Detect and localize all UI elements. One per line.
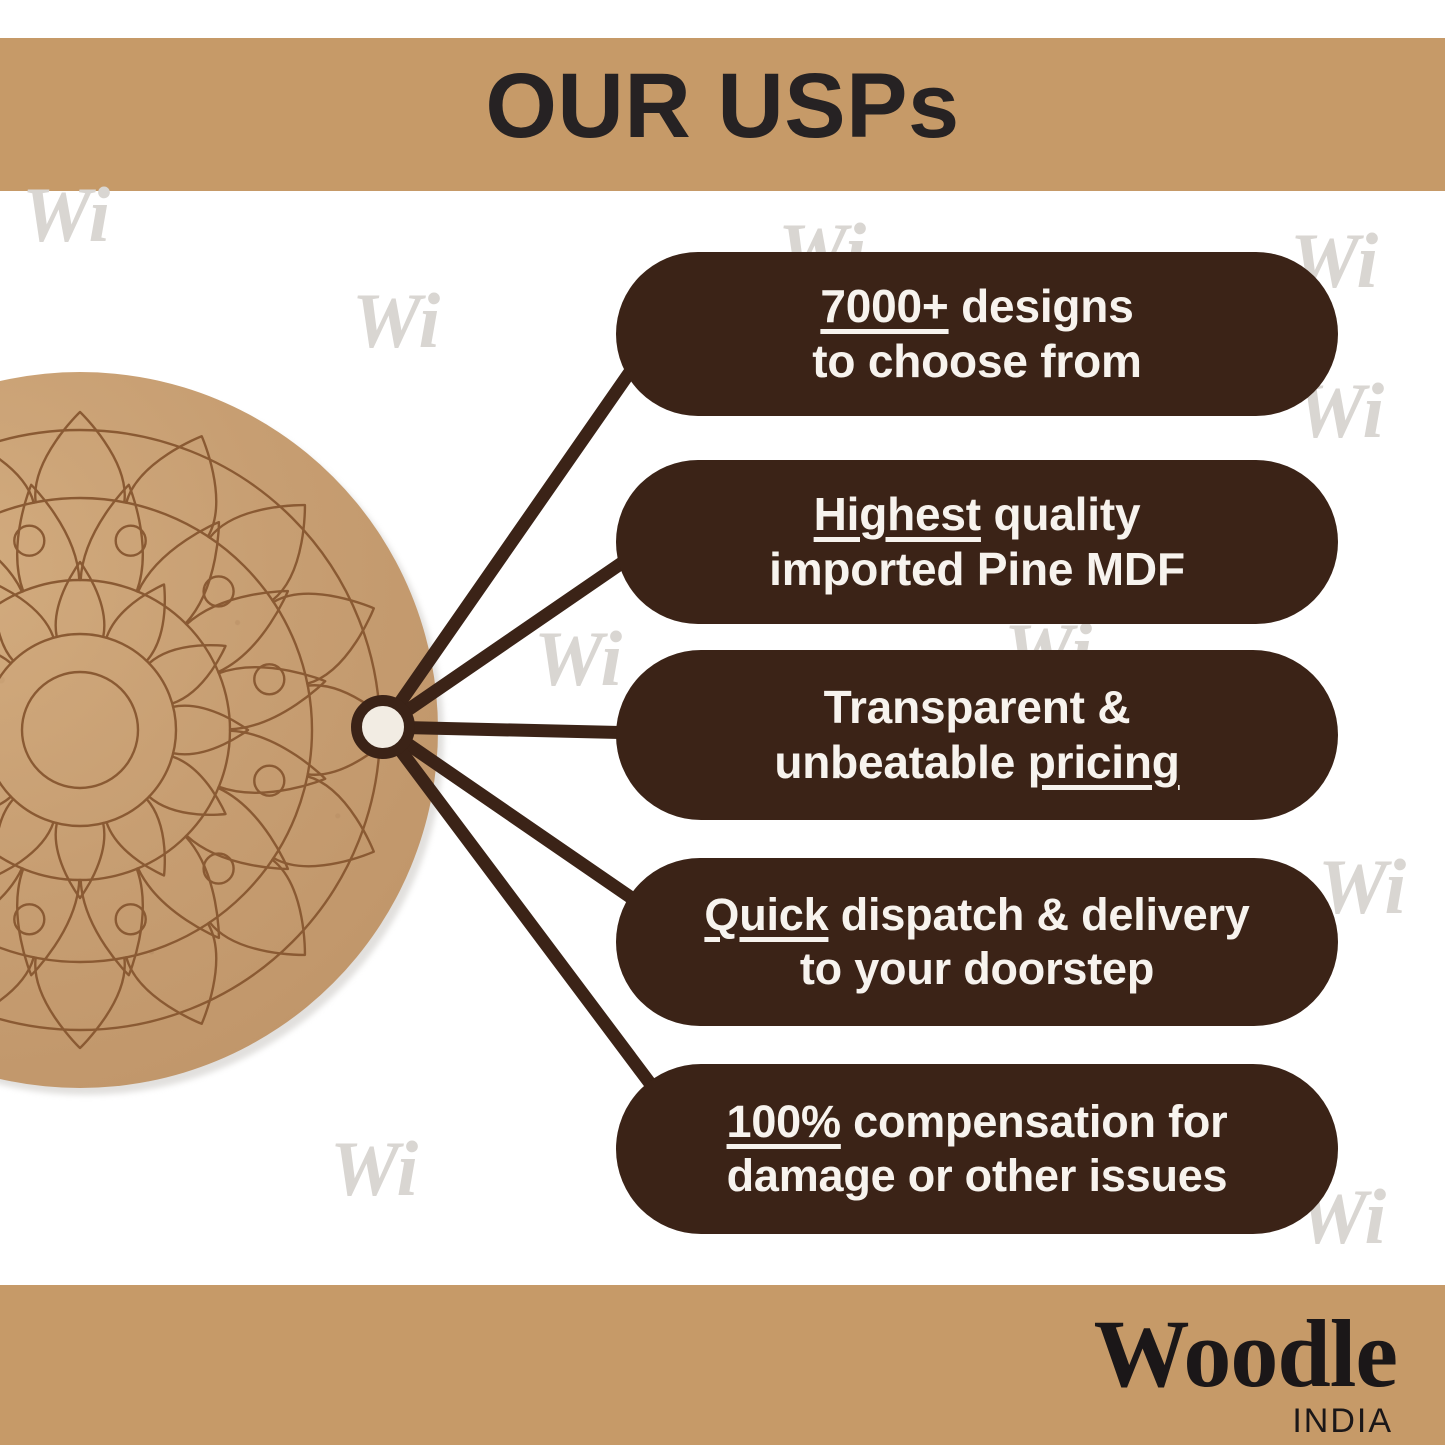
usp-card-1[interactable]: 7000+ designs to choose from — [616, 252, 1338, 416]
usp-line1-3: Transparent & — [824, 681, 1131, 733]
mandala-petal — [149, 645, 225, 703]
central-hub-node — [351, 695, 415, 759]
usp-text-2: Highest quality imported Pine MDF — [769, 487, 1185, 596]
usp-rest-1: designs — [949, 280, 1134, 332]
brand-name: Woodle — [1094, 1306, 1397, 1402]
mandala-petal — [210, 505, 305, 600]
usp-highlight-1: 7000+ — [820, 280, 948, 332]
brand-sub: INDIA — [1094, 1404, 1393, 1438]
mandala-petal — [173, 706, 248, 755]
brand-logo: Woodle INDIA — [1094, 1306, 1397, 1438]
usp-text-3: Transparent & unbeatable pricing — [774, 680, 1179, 789]
usp-rest-3: unbeatable — [774, 736, 1027, 788]
mandala-petal — [138, 837, 219, 938]
usp-card-3[interactable]: Transparent & unbeatable pricing — [616, 650, 1338, 820]
mandala-petal — [107, 799, 165, 875]
usp-card-4[interactable]: Quick dispatch & delivery to your doorst… — [616, 858, 1338, 1026]
usp-highlight-4: Quick — [704, 889, 828, 940]
mandala-petal — [56, 562, 105, 637]
watermark-wi: Wi — [534, 620, 622, 698]
usp-highlight-3: pricing — [1028, 736, 1180, 788]
usp-line2-2: imported Pine MDF — [769, 543, 1185, 595]
mandala-petal — [56, 823, 105, 898]
usp-highlight-5: 100% — [727, 1096, 841, 1147]
usp-rest-2: quality — [981, 488, 1140, 540]
mandala-petal — [138, 522, 219, 623]
usp-line2-4: to your doorstep — [800, 943, 1154, 994]
watermark-wi: Wi — [330, 1130, 418, 1208]
usp-card-2[interactable]: Highest quality imported Pine MDF — [616, 460, 1338, 624]
usp-text-4: Quick dispatch & delivery to your doorst… — [704, 888, 1249, 995]
usp-text-5: 100% compensation for damage or other is… — [727, 1095, 1228, 1202]
usp-text-1: 7000+ designs to choose from — [812, 279, 1141, 388]
mandala-petal — [187, 788, 288, 869]
usp-infographic: OUR USPs WiWiWiWiWiWiWiWiWiWi — [0, 0, 1445, 1445]
usp-rest-5: compensation for — [841, 1096, 1228, 1147]
mandala-petal — [0, 436, 34, 536]
usp-highlight-2: Highest — [814, 488, 981, 540]
mandala-petal — [35, 412, 124, 502]
mandala-petal — [0, 924, 34, 1024]
usp-line2-1: to choose from — [812, 335, 1141, 387]
usp-line2-5: damage or other issues — [727, 1150, 1228, 1201]
watermark-wi: Wi — [352, 282, 440, 360]
usp-card-5[interactable]: 100% compensation for damage or other is… — [616, 1064, 1338, 1234]
page-title: OUR USPs — [0, 60, 1445, 152]
mandala-petal — [35, 958, 124, 1048]
mandala-petal — [149, 757, 225, 815]
mandala-petal — [210, 860, 305, 955]
usp-rest-4: dispatch & delivery — [828, 889, 1249, 940]
mandala-petal — [107, 585, 165, 661]
mandala-dot — [204, 576, 234, 606]
mandala-petal — [187, 591, 288, 672]
mandala-dot — [204, 854, 234, 884]
